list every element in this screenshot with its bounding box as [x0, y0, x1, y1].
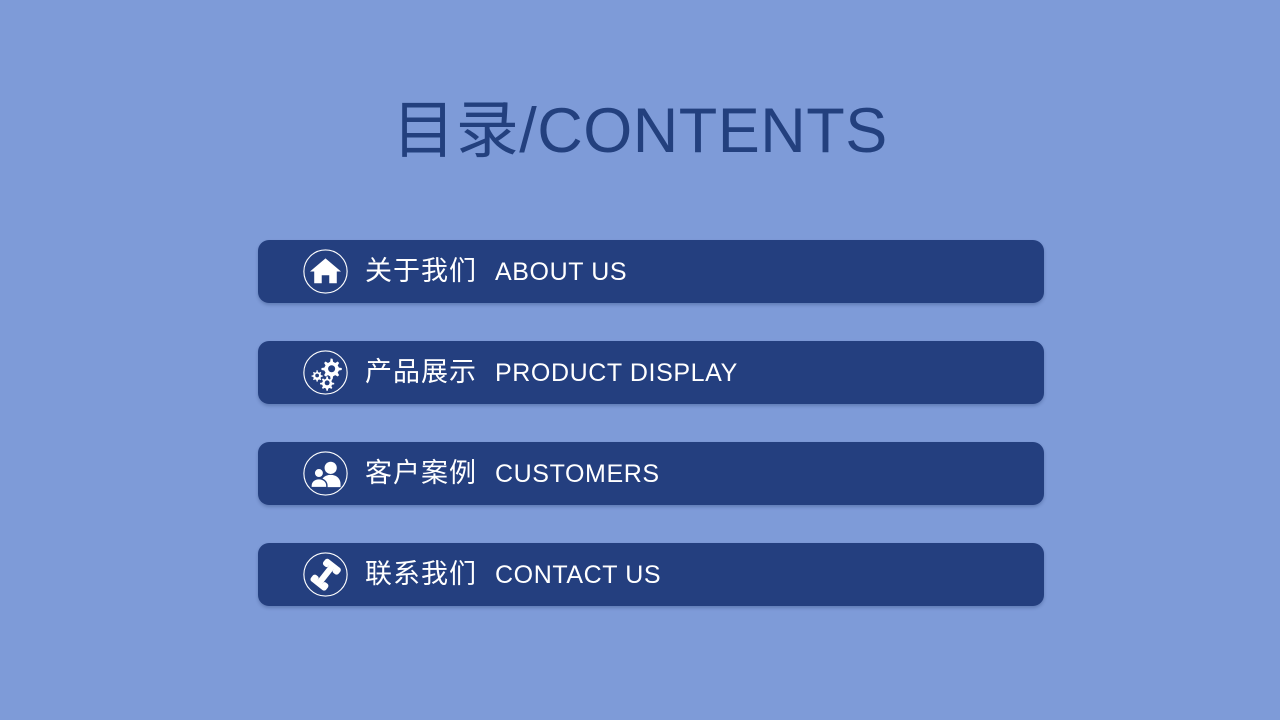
contents-item-label-en: PRODUCT DISPLAY — [495, 361, 738, 386]
contents-list: 关于我们 ABOUT US — [258, 240, 1044, 606]
contents-item-label-en: CUSTOMERS — [495, 462, 660, 487]
contents-item-label: 客户案例 CUSTOMERS — [365, 460, 660, 487]
page-title-container: 目录/CONTENTS — [0, 98, 1280, 164]
contents-item-contact-us[interactable]: 联系我们 CONTACT US — [258, 543, 1044, 606]
contents-item-label: 关于我们 ABOUT US — [365, 258, 627, 285]
contents-item-label-en: CONTACT US — [495, 563, 661, 588]
contents-item-label: 产品展示 PRODUCT DISPLAY — [365, 359, 738, 386]
contents-item-label-en: ABOUT US — [495, 260, 627, 285]
home-icon — [302, 248, 349, 295]
contents-item-label-cn: 联系我们 — [365, 561, 477, 588]
contents-item-customers[interactable]: 客户案例 CUSTOMERS — [258, 442, 1044, 505]
people-icon — [302, 450, 349, 497]
contents-item-about-us[interactable]: 关于我们 ABOUT US — [258, 240, 1044, 303]
contents-item-label-cn: 产品展示 — [365, 359, 477, 386]
contents-item-label-cn: 关于我们 — [365, 258, 477, 285]
contents-item-label-cn: 客户案例 — [365, 460, 477, 487]
contents-item-product-display[interactable]: 产品展示 PRODUCT DISPLAY — [258, 341, 1044, 404]
page-title: 目录/CONTENTS — [392, 98, 888, 164]
gears-icon — [302, 349, 349, 396]
contents-slide: 目录/CONTENTS 关于我们 ABOUT US — [0, 0, 1280, 720]
contents-item-label: 联系我们 CONTACT US — [365, 561, 661, 588]
phone-icon — [302, 551, 349, 598]
